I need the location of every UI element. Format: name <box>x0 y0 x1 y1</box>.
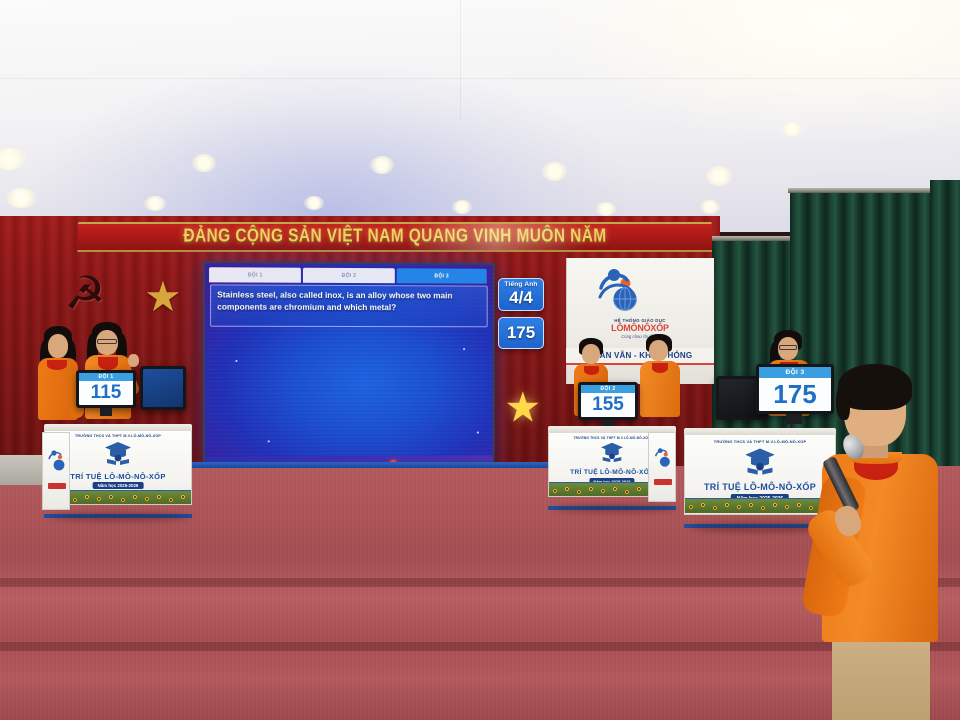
ceiling-downlight <box>370 156 394 174</box>
quiz-show-stage-photo: ĐẢNG CỘNG SẢN VIỆT NAM QUANG VINH MUÔN N… <box>0 0 960 720</box>
progress-value: 4/4 <box>499 288 543 307</box>
scoreboard-monitor-team-1: ĐỘI 1 115 <box>76 370 136 408</box>
scoreboard-team-label: ĐỘI 1 <box>79 373 133 381</box>
ceiling-downlight <box>192 154 216 172</box>
current-score-box: 175 <box>498 317 544 349</box>
podium-year-badge: Năm học 2025-2026 <box>93 482 144 489</box>
laptop-screen <box>143 369 183 407</box>
ceiling-downlight <box>452 200 472 214</box>
hand <box>128 354 139 367</box>
podium-side-board-team-1 <box>42 432 70 510</box>
slide-tab-team-1[interactable]: ĐỘI 1 <box>209 267 301 283</box>
graduation-cap-icon <box>743 446 777 481</box>
head <box>48 334 68 358</box>
head <box>649 340 668 361</box>
hair-side <box>836 386 850 420</box>
ceiling-downlight <box>542 162 567 181</box>
logo-line-2: LÔMÔNÔXỐP <box>572 323 708 333</box>
slide-decor-star-icon: ★ <box>504 387 541 429</box>
slide-sparkle <box>268 440 270 442</box>
scoreboard-monitor-team-2: ĐỘI 2 155 <box>578 382 638 420</box>
monitor-stand-team-1 <box>100 408 112 416</box>
scoreboard-screen: ĐỘI 2 155 <box>581 385 635 417</box>
scoreboard-screen: ĐỘI 1 115 <box>79 373 133 405</box>
question-text: Stainless steel, also called inox, is an… <box>217 289 481 313</box>
monitor-stand-team-3 <box>786 414 802 424</box>
lomonoxop-side-logo-icon <box>653 447 673 476</box>
scoreboard-team-label: ĐỘI 2 <box>581 385 635 393</box>
projection-screen: ĐỘI 1 ĐỘI 2 ĐỘI 3 Stainless steel, also … <box>203 261 495 465</box>
scoreboard-score-value: 115 <box>79 381 133 405</box>
ceiling-downlight <box>782 122 802 136</box>
podium-shadow <box>554 504 676 513</box>
ceiling-downlight <box>596 202 616 216</box>
laptop-team-1 <box>140 366 186 410</box>
venue-banner: ĐẢNG CỘNG SẢN VIỆT NAM QUANG VINH MUÔN N… <box>78 222 713 252</box>
trousers <box>832 634 930 720</box>
ceiling-downlight <box>700 200 720 214</box>
slide-sparkle <box>463 348 465 350</box>
subject-label: Tiếng Anh <box>499 281 543 288</box>
side-board-badge <box>654 479 672 485</box>
graduation-cap-icon <box>599 441 625 468</box>
lomonoxop-side-logo-icon <box>47 449 67 480</box>
side-board-badge <box>48 483 66 489</box>
slide-tab-team-2[interactable]: ĐỘI 2 <box>303 268 394 283</box>
slide-sparkle <box>235 360 237 362</box>
graduation-cap-icon <box>103 440 133 471</box>
slide-team-tabs: ĐỘI 1 ĐỘI 2 ĐỘI 3 <box>209 267 489 283</box>
podium-side-board-team-2 <box>648 432 676 502</box>
lomonoxop-logo-icon <box>596 266 642 316</box>
ceiling-downlight <box>0 148 26 170</box>
podium-shadow <box>50 512 190 522</box>
subject-progress-box: Tiếng Anh 4/4 <box>498 278 544 311</box>
ceiling-downlight <box>706 166 732 186</box>
ceiling-downlight <box>6 188 36 208</box>
slide-side-panel: Tiếng Anh 4/4 175 <box>498 278 544 355</box>
eyeglasses-icon <box>97 339 117 344</box>
current-score-value: 175 <box>499 323 543 342</box>
scoreboard-score-value: 155 <box>581 393 635 417</box>
left-wall-base <box>0 455 44 485</box>
ceiling-downlight <box>144 196 166 211</box>
head <box>582 344 600 364</box>
student-team2-right <box>640 334 680 434</box>
eyeglasses-icon <box>779 345 797 350</box>
student-with-microphone <box>806 358 960 720</box>
hammer-sickle-icon: ☭ <box>62 268 108 320</box>
ceiling-downlight <box>304 196 324 210</box>
banner-gloss <box>78 224 712 250</box>
question-card: Stainless steel, also called inox, is an… <box>210 284 488 327</box>
gold-star-icon: ★ <box>142 276 184 318</box>
slide-sparkle <box>477 431 478 432</box>
slide-tab-team-3[interactable]: ĐỘI 3 <box>396 268 486 283</box>
